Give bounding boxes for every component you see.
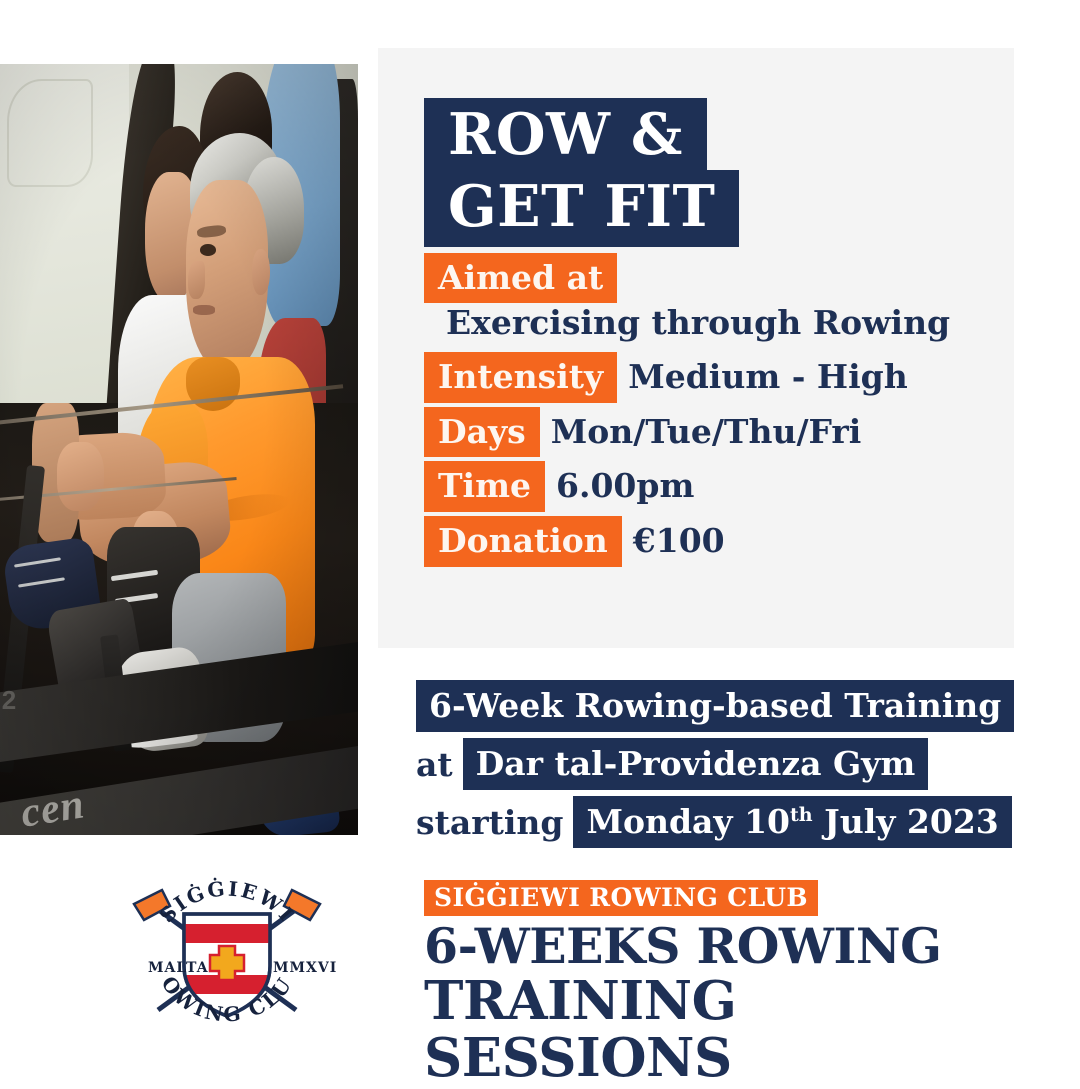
- program-venue-highlight: Dar tal-Providenza Gym: [463, 738, 929, 790]
- detail-row-time: Time 6.00pm: [424, 461, 1004, 512]
- brand-headline-1: 6-WEEKS ROWING: [424, 920, 1024, 973]
- club-name-tagline: SIĠĠIEWI ROWING CLUB: [424, 880, 818, 916]
- program-duration-highlight: 6-Week Rowing-based Training: [416, 680, 1014, 732]
- program-line-1: 6-Week Rowing-based Training: [416, 680, 1016, 732]
- logo-left-text: MALTA: [148, 960, 209, 976]
- poster-title: ROW & GET FIT: [424, 98, 739, 247]
- title-line-1: ROW &: [424, 98, 707, 170]
- program-line-2: at Dar tal-Providenza Gym: [416, 738, 1016, 790]
- detail-value-intensity: Medium - High: [617, 352, 908, 403]
- program-at-label: at: [416, 745, 463, 784]
- detail-tag-aimed-at: Aimed at: [424, 253, 617, 303]
- detail-tag-time: Time: [424, 461, 545, 512]
- detail-tag-intensity: Intensity: [424, 352, 617, 403]
- detail-value-donation: €100: [622, 516, 725, 567]
- logo-right-text: MMXVI: [273, 960, 336, 976]
- program-startdate-highlight: Monday 10th July 2023: [573, 796, 1011, 848]
- detail-row-aimed-at: Aimed at Exercising through Rowing: [424, 258, 1004, 348]
- club-logo: SIĠĠIEWI ROWING CLUB MALTA MMXVI: [118, 862, 336, 1042]
- detail-row-intensity: Intensity Medium - High: [424, 352, 1004, 403]
- detail-value-time: 6.00pm: [545, 461, 694, 512]
- detail-row-days: Days Mon/Tue/Thu/Fri: [424, 407, 1004, 458]
- brand-headline-2: TRAINING SESSIONS: [424, 973, 1024, 1087]
- detail-row-donation: Donation €100: [424, 516, 1004, 567]
- startdate-rest: July 2023: [813, 802, 999, 841]
- hero-photo: 2 cen: [0, 64, 358, 835]
- detail-value-aimed-at: Exercising through Rowing: [424, 298, 1004, 349]
- details-list: Aimed at Exercising through Rowing Inten…: [424, 258, 1004, 571]
- program-line-3: starting Monday 10th July 2023: [416, 796, 1016, 848]
- program-summary: 6-Week Rowing-based Training at Dar tal-…: [416, 680, 1016, 854]
- program-starting-label: starting: [416, 803, 573, 842]
- detail-tag-donation: Donation: [424, 516, 622, 567]
- detail-tag-days: Days: [424, 407, 540, 458]
- photo-scene: 2 cen: [0, 64, 358, 835]
- brand-block: SIĠĠIEWI ROWING CLUB 6-WEEKS ROWING TRAI…: [424, 880, 1024, 1087]
- detail-value-days: Mon/Tue/Thu/Fri: [540, 407, 862, 458]
- startdate-day: Monday 10: [586, 802, 790, 841]
- title-line-2: GET FIT: [424, 170, 739, 248]
- photo-vignette: [0, 64, 358, 835]
- startdate-ordinal: th: [790, 804, 813, 826]
